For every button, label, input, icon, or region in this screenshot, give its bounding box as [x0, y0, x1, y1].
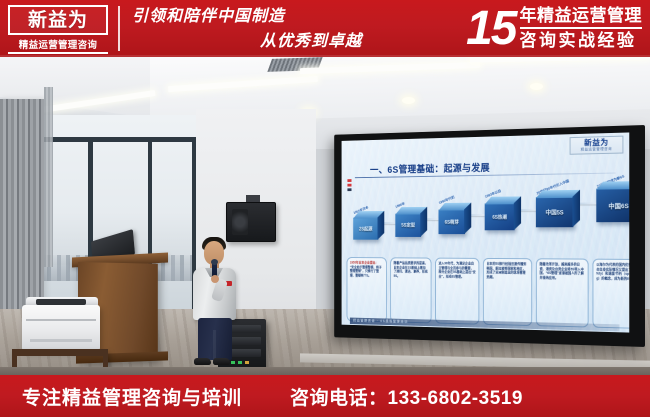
- indicator-light-amber: [245, 361, 249, 364]
- description-box: 随着改革开放，越来越多的日资、港资及台资企业将5S带入中国，“6S管理”逐渐被国…: [536, 258, 589, 327]
- poster-root: 新益为 精益运营管理咨询 引领和陪伴中国制造 从优秀到卓越 15 年精益运营管理…: [0, 0, 650, 417]
- slide-brand-name: 新益为: [584, 139, 608, 148]
- slogan-line-1: 引领和陪伴中国制造: [130, 4, 380, 29]
- printer: [22, 305, 100, 351]
- presenter-shoe: [213, 358, 230, 365]
- timeline-cube: 中国5S: [536, 197, 574, 227]
- description-box: 进入90年代，为满足企业自主管理与全员参与的需要，部分企业在5S基础上提出“安全…: [435, 258, 479, 325]
- company-logo-subtitle: 精益运营管理咨询: [8, 37, 108, 54]
- header-banner: 新益为 精益运营管理咨询 引领和陪伴中国制造 从优秀到卓越 15 年精益运营管理…: [0, 0, 650, 57]
- header-experience-badge: 15 年精益运营管理 咨询实战经验: [466, 2, 642, 55]
- nav-marker: [347, 184, 351, 187]
- experience-years-number: 15: [466, 4, 519, 54]
- header-slogan: 引领和陪伴中国制造 从优秀到卓越: [130, 4, 380, 54]
- nav-marker: [347, 179, 351, 182]
- slide-canvas: 新益为 精益运营管理咨询 一、6S管理基础：起源与发展 1955年日本: [342, 132, 630, 332]
- description-text: 以海尔为代表的国内优秀企业，结合自身实际情况又提出了安全（safety）和速度/…: [596, 263, 629, 282]
- timeline-cubes: 1955年日本 1986年 1990年代初 1993年以后 20世纪90年代引入…: [348, 184, 629, 246]
- printer-tray: [30, 339, 92, 342]
- training-room-photo: 新益为 精益运营管理咨询 一、6S管理基础：起源与发展 1955年日本: [0, 57, 650, 375]
- experience-line-2: 咨询实战经验: [520, 29, 643, 51]
- timeline-cube: 6S热潮: [485, 203, 515, 230]
- downlight: [530, 83, 543, 90]
- footer-phone[interactable]: 咨询电话：133-6802-3519: [290, 383, 523, 410]
- downlight: [402, 97, 415, 104]
- presenter-trousers: [198, 318, 232, 360]
- slide-brand-sub: 精益运营管理咨询: [581, 148, 612, 152]
- timeline-cube: 2S起源: [353, 218, 378, 240]
- timeline-cube: 中国6S: [596, 188, 629, 222]
- presenter: [186, 235, 244, 367]
- led-display-screen: 新益为 精益运营管理咨询 一、6S管理基础：起源与发展 1955年日本: [334, 125, 645, 347]
- description-text: 日本的5S推行经验迅速传播到韩国、新加坡等国家和地区，形成了亚洲制造业的现场管理…: [487, 262, 529, 280]
- company-logo-name: 新益为: [8, 5, 108, 35]
- curtain: [0, 99, 44, 314]
- description-text: “安全始于整理整顿，终于整理整顿”，只推行了整理、整顿两个S。: [350, 265, 384, 278]
- footer-tagline: 专注精益管理咨询与培训: [22, 383, 242, 410]
- timeline-cube: 6S萌芽: [439, 209, 465, 234]
- description-box: 以海尔为代表的国内优秀企业，结合自身实际情况又提出了安全（safety）和速度/…: [592, 259, 629, 329]
- printer-seam: [26, 319, 96, 321]
- experience-line-1: 年精益运营管理: [520, 6, 643, 29]
- curtain-sheer: [44, 87, 53, 267]
- header-divider: [118, 6, 120, 51]
- description-text: 随着产品品质要求的提高，日本企业在2S基础上增加了清扫、清洁、素养，形成5S。: [394, 261, 428, 279]
- footer-banner: 专注精益管理咨询与培训 咨询电话：133-6802-3519: [0, 375, 650, 417]
- description-box: 随着产品品质要求的提高，日本企业在2S基础上增加了清扫、清洁、素养，形成5S。: [390, 257, 431, 323]
- description-box: 日本的5S推行经验迅速传播到韩国、新加坡等国家和地区，形成了亚洲制造业的现场管理…: [483, 258, 532, 326]
- description-text: 进入90年代，为满足企业自主管理与全员参与的需要，部分企业在5S基础上提出“安全…: [439, 261, 476, 279]
- slogan-line-2: 从优秀到卓越: [130, 29, 380, 54]
- description-box: 1955年日本企业提出： “安全始于整理整顿，终于整理整顿”，只推行了整理、整顿…: [347, 257, 387, 322]
- company-logo: 新益为 精益运营管理咨询: [8, 5, 108, 52]
- slide-title: 一、6S管理基础：起源与发展: [370, 160, 490, 177]
- description-text: 随着改革开放，越来越多的日资、港资及台资企业将5S带入中国，“6S管理”逐渐被国…: [540, 262, 585, 280]
- presenter-hand: [211, 275, 219, 283]
- floor-shadow-strip: [0, 367, 650, 375]
- slide-brand-logo: 新益为 精益运营管理咨询: [570, 136, 624, 155]
- presenter-shoe: [194, 358, 211, 365]
- timeline-cube: 5S定型: [395, 214, 421, 237]
